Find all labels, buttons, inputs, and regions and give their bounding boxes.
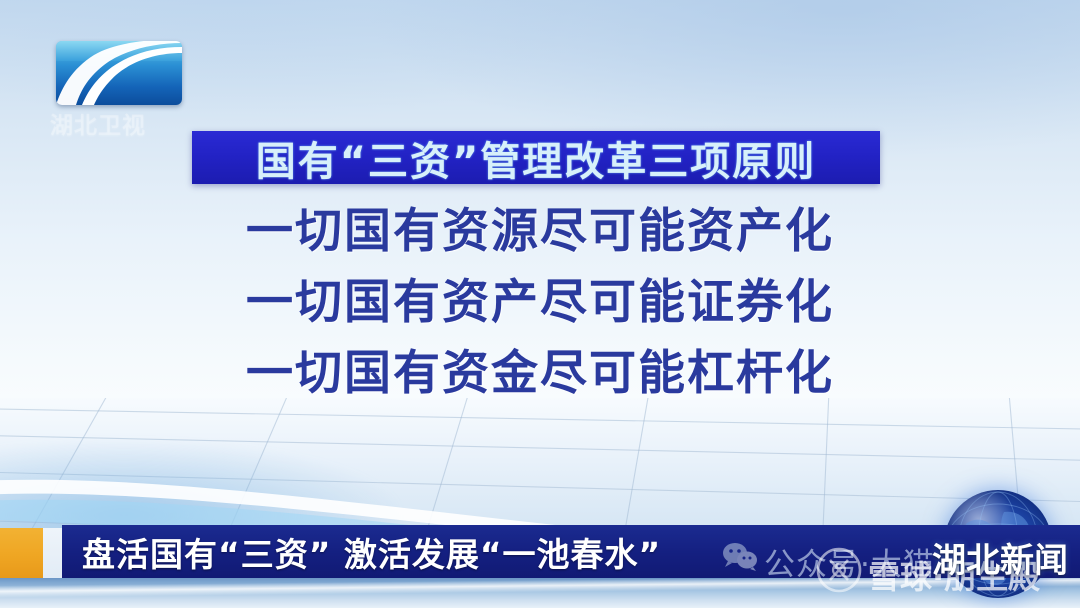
station-logo-box xyxy=(56,41,182,105)
ticker-accent-block xyxy=(0,528,43,578)
xueqiu-logo-icon xyxy=(815,546,863,594)
river-swoosh-icon xyxy=(56,41,182,105)
principle-line-3: 一切国有资金尽可能杠杆化 xyxy=(0,338,1080,409)
title-banner: 国有“三资”管理改革三项原则 xyxy=(192,131,880,184)
wechat-icon xyxy=(722,541,758,571)
station-logo xyxy=(56,41,182,105)
ticker-headline: 盘活国有“三资” 激活发展“一池春水” xyxy=(82,528,661,576)
principle-line-1: 一切国有资源尽可能资产化 xyxy=(0,196,1080,267)
ticker-gap-block xyxy=(43,528,62,578)
principle-line-2: 一切国有资产尽可能证券化 xyxy=(0,267,1080,338)
broadcast-screen: 湖北卫视 国有“三资”管理改革三项原则 一切国有资源尽可能资产化 一切国有资产尽… xyxy=(0,0,1080,608)
title-banner-text: 国有“三资”管理改革三项原则 xyxy=(256,129,817,187)
station-name-faint: 湖北卫视 xyxy=(50,106,190,136)
principles-list: 一切国有资源尽可能资产化 一切国有资产尽可能证券化 一切国有资金尽可能杠杆化 xyxy=(0,196,1080,409)
station-bug-text: 湖北新闻 xyxy=(932,533,1068,582)
